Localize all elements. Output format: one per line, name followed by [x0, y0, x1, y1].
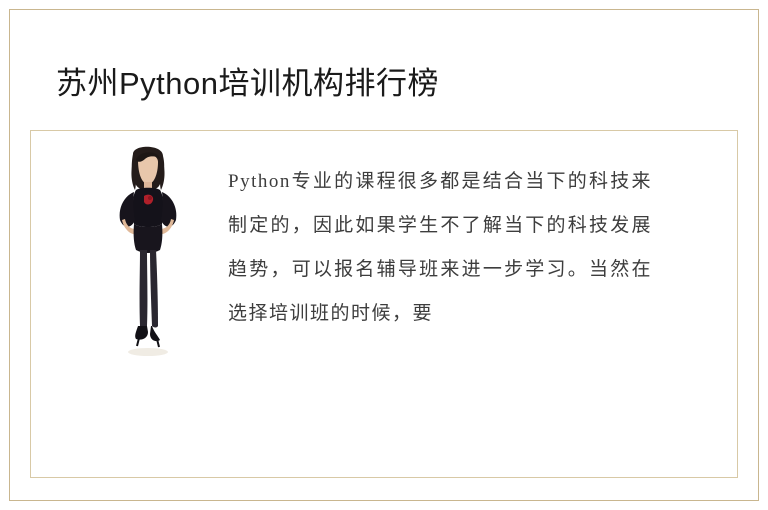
article-body-text: Python专业的课程很多都是结合当下的科技来制定的，因此如果学生不了解当下的科… [228, 160, 652, 336]
page-title: 苏州Python培训机构排行榜 [56, 62, 439, 106]
page-root: 苏州Python培训机构排行榜 [0, 0, 768, 510]
woman-in-black-dress-photo [100, 140, 196, 366]
